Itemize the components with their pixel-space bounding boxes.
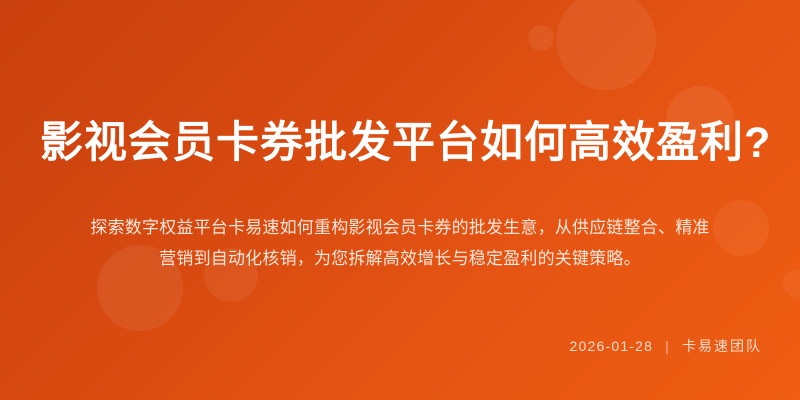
author-team: 卡易速团队	[682, 336, 762, 356]
promo-banner: 影视会员卡券批发平台如何高效盈利? 探索数字权益平台卡易速如何重构影视会员卡券的…	[0, 0, 800, 400]
banner-subtitle: 探索数字权益平台卡易速如何重构影视会员卡券的批发生意，从供应链整合、精准 营销到…	[34, 212, 766, 274]
subtitle-line-1: 探索数字权益平台卡易速如何重构影视会员卡券的批发生意，从供应链整合、精准	[34, 212, 766, 243]
banner-content: 影视会员卡券批发平台如何高效盈利? 探索数字权益平台卡易速如何重构影视会员卡券的…	[0, 0, 800, 400]
publish-date: 2026-01-28	[570, 338, 654, 354]
meta-separator: |	[665, 338, 670, 354]
page-title: 影视会员卡券批发平台如何高效盈利?	[40, 117, 760, 169]
banner-meta: 2026-01-28 | 卡易速团队	[570, 336, 762, 356]
subtitle-line-2: 营销到自动化核销，为您拆解高效增长与稳定盈利的关键策略。	[34, 243, 766, 274]
